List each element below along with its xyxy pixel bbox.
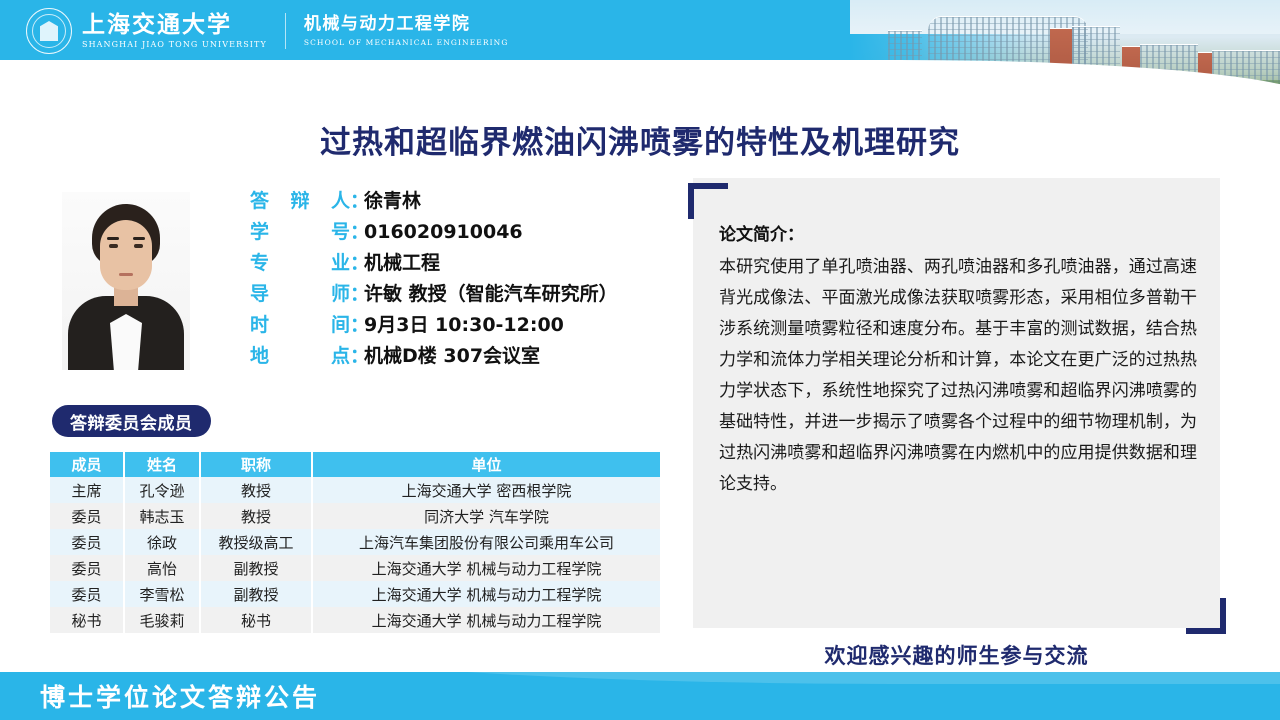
abstract-body: 本研究使用了单孔喷油器、两孔喷油器和多孔喷油器，通过高速背光成像法、平面激光成像… — [719, 252, 1197, 500]
table-cell: 副教授 — [200, 555, 312, 581]
table-column-header: 成员 — [50, 452, 124, 477]
table-cell: 副教授 — [200, 581, 312, 607]
info-row: 时间：9月3日 10:30-12:00 — [250, 310, 680, 341]
welcome-message: 欢迎感兴趣的师生参与交流 — [693, 640, 1220, 670]
info-row: 地点：机械D楼 307会议室 — [250, 341, 680, 372]
table-cell: 高怡 — [124, 555, 200, 581]
candidate-portrait — [62, 192, 190, 370]
info-row-label: 专业 — [250, 248, 350, 275]
info-row-colon: ： — [350, 279, 364, 306]
info-row-colon: ： — [350, 186, 364, 213]
table-column-header: 职称 — [200, 452, 312, 477]
table-cell: 李雪松 — [124, 581, 200, 607]
info-row-label: 时间 — [250, 310, 350, 337]
committee-badge: 答辩委员会成员 — [52, 405, 211, 437]
table-column-header: 姓名 — [124, 452, 200, 477]
university-name: 上海交通大学 SHANGHAI JIAO TONG UNIVERSITY — [82, 13, 267, 49]
table-cell: 上海交通大学 密西根学院 — [312, 477, 660, 503]
table-column-header: 单位 — [312, 452, 660, 477]
logo-divider — [285, 13, 286, 49]
table-cell: 孔令逊 — [124, 477, 200, 503]
info-row: 导师：许敏 教授（智能汽车研究所） — [250, 279, 680, 310]
table-row: 委员徐政教授级高工上海汽车集团股份有限公司乘用车公司 — [50, 529, 660, 555]
info-row: 学号：016020910046 — [250, 217, 680, 248]
committee-table: 成员姓名职称单位 主席孔令逊教授上海交通大学 密西根学院委员韩志玉教授同济大学 … — [50, 452, 660, 633]
table-body: 主席孔令逊教授上海交通大学 密西根学院委员韩志玉教授同济大学 汽车学院委员徐政教… — [50, 477, 660, 633]
table-cell: 毛骏莉 — [124, 607, 200, 633]
table-cell: 同济大学 汽车学院 — [312, 503, 660, 529]
table-cell: 秘书 — [200, 607, 312, 633]
abstract-title: 论文简介： — [719, 220, 1197, 245]
table-cell: 秘书 — [50, 607, 124, 633]
page-title: 过热和超临界燃油闪沸喷雾的特性及机理研究 — [0, 117, 1280, 162]
info-row-colon: ： — [350, 217, 364, 244]
info-row-value: 016020910046 — [364, 221, 523, 243]
table-cell: 上海交通大学 机械与动力工程学院 — [312, 607, 660, 633]
info-row-value: 机械D楼 307会议室 — [364, 341, 540, 368]
table-cell: 委员 — [50, 503, 124, 529]
info-row: 专业：机械工程 — [250, 248, 680, 279]
info-row-label: 地点 — [250, 341, 350, 368]
table-cell: 教授 — [200, 477, 312, 503]
page-header: 上海交通大学 SHANGHAI JIAO TONG UNIVERSITY 机械与… — [0, 0, 1280, 98]
abstract-panel: 论文简介： 本研究使用了单孔喷油器、两孔喷油器和多孔喷油器，通过高速背光成像法、… — [693, 178, 1220, 628]
table-cell: 教授级高工 — [200, 529, 312, 555]
table-cell: 上海汽车集团股份有限公司乘用车公司 — [312, 529, 660, 555]
info-row-value: 许敏 教授（智能汽车研究所） — [364, 279, 618, 306]
table-cell: 教授 — [200, 503, 312, 529]
university-name-cn: 上海交通大学 — [82, 13, 267, 36]
sjtu-logo-block: 上海交通大学 SHANGHAI JIAO TONG UNIVERSITY 机械与… — [26, 8, 508, 54]
corner-bracket-bottom-right — [1186, 598, 1226, 634]
school-name-en: SCHOOL OF MECHANICAL ENGINEERING — [304, 39, 509, 47]
table-cell: 上海交通大学 机械与动力工程学院 — [312, 581, 660, 607]
info-row-value: 机械工程 — [364, 248, 440, 275]
sjtu-seal-icon — [26, 8, 72, 54]
info-row-colon: ： — [350, 310, 364, 337]
table-cell: 委员 — [50, 555, 124, 581]
table-row: 委员李雪松副教授上海交通大学 机械与动力工程学院 — [50, 581, 660, 607]
page-footer: 博士学位论文答辩公告 — [0, 672, 1280, 720]
info-row-colon: ： — [350, 248, 364, 275]
table-cell: 徐政 — [124, 529, 200, 555]
info-row-label: 学号 — [250, 217, 350, 244]
table-cell: 主席 — [50, 477, 124, 503]
header-curve-divider — [0, 60, 1280, 98]
table-cell: 上海交通大学 机械与动力工程学院 — [312, 555, 660, 581]
info-row: 答辩人：徐青林 — [250, 186, 680, 217]
corner-bracket-top-left — [688, 183, 728, 219]
university-name-en: SHANGHAI JIAO TONG UNIVERSITY — [82, 41, 267, 49]
table-row: 主席孔令逊教授上海交通大学 密西根学院 — [50, 477, 660, 503]
info-row-value: 9月3日 10:30-12:00 — [364, 310, 564, 337]
table-cell: 委员 — [50, 529, 124, 555]
table-row: 秘书毛骏莉秘书上海交通大学 机械与动力工程学院 — [50, 607, 660, 633]
table-cell: 韩志玉 — [124, 503, 200, 529]
info-row-label: 导师 — [250, 279, 350, 306]
footer-title: 博士学位论文答辩公告 — [40, 678, 320, 714]
info-row-colon: ： — [350, 341, 364, 368]
table-row: 委员韩志玉教授同济大学 汽车学院 — [50, 503, 660, 529]
table-row: 委员高怡副教授上海交通大学 机械与动力工程学院 — [50, 555, 660, 581]
defense-info-list: 答辩人：徐青林学号：016020910046专业：机械工程导师：许敏 教授（智能… — [250, 186, 680, 372]
info-row-label: 答辩人 — [250, 186, 350, 213]
school-name-cn: 机械与动力工程学院 — [304, 16, 509, 33]
info-row-value: 徐青林 — [364, 186, 421, 213]
table-cell: 委员 — [50, 581, 124, 607]
table-header-row: 成员姓名职称单位 — [50, 452, 660, 477]
school-name: 机械与动力工程学院 SCHOOL OF MECHANICAL ENGINEERI… — [304, 16, 509, 47]
